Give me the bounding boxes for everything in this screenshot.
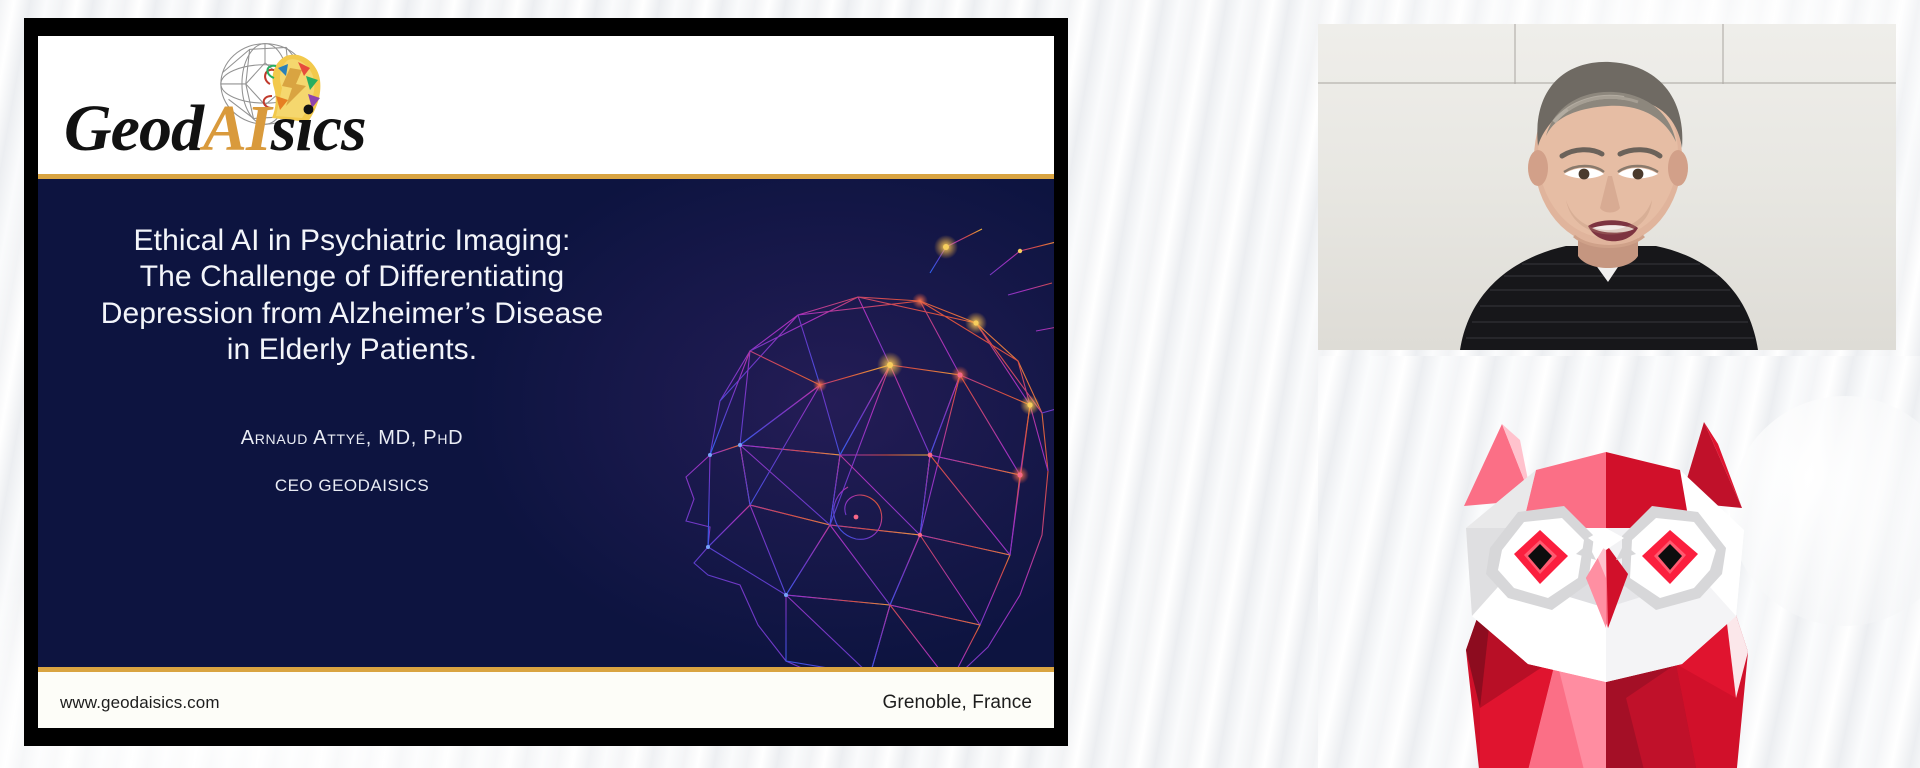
logo-part-geod: Geod <box>64 92 203 165</box>
owl-logo-panel <box>1318 356 1920 768</box>
footer-location: Grenoble, France <box>883 692 1032 714</box>
author-name: Arnaud Attyé, MD, PhD <box>72 427 632 450</box>
logo-part-ai: AI <box>203 92 271 165</box>
title-line-4: in Elderly Patients. <box>72 332 632 368</box>
meeting-stage: GeodAIsics <box>0 0 1920 768</box>
shared-screen-region[interactable]: GeodAIsics <box>24 18 1068 746</box>
slide-body: Ethical AI in Psychiatric Imaging: The C… <box>38 179 1054 667</box>
title-line-3: Depression from Alzheimer’s Disease <box>72 296 632 332</box>
wireframe-head-network-graphic <box>590 179 1054 667</box>
slide-footer: www.geodaisics.com Grenoble, France <box>38 667 1054 728</box>
slide-title: Ethical AI in Psychiatric Imaging: The C… <box>72 223 632 368</box>
title-line-2: The Challenge of Differentiating <box>72 259 632 295</box>
footer-website: www.geodaisics.com <box>60 693 220 713</box>
speaker-person <box>1442 50 1772 350</box>
low-poly-owl-icon <box>1436 378 1776 768</box>
slide-header: GeodAIsics <box>38 36 1054 179</box>
company-logo-text: GeodAIsics <box>64 96 366 162</box>
author-role: CEO GEODAISICS <box>72 476 632 496</box>
presentation-slide: GeodAIsics <box>38 36 1054 728</box>
title-line-1: Ethical AI in Psychiatric Imaging: <box>72 223 632 259</box>
slide-author-block: Arnaud Attyé, MD, PhD CEO GEODAISICS <box>72 427 632 496</box>
speaker-video-tile[interactable] <box>1318 24 1896 350</box>
logo-part-sics: sics <box>271 92 366 165</box>
